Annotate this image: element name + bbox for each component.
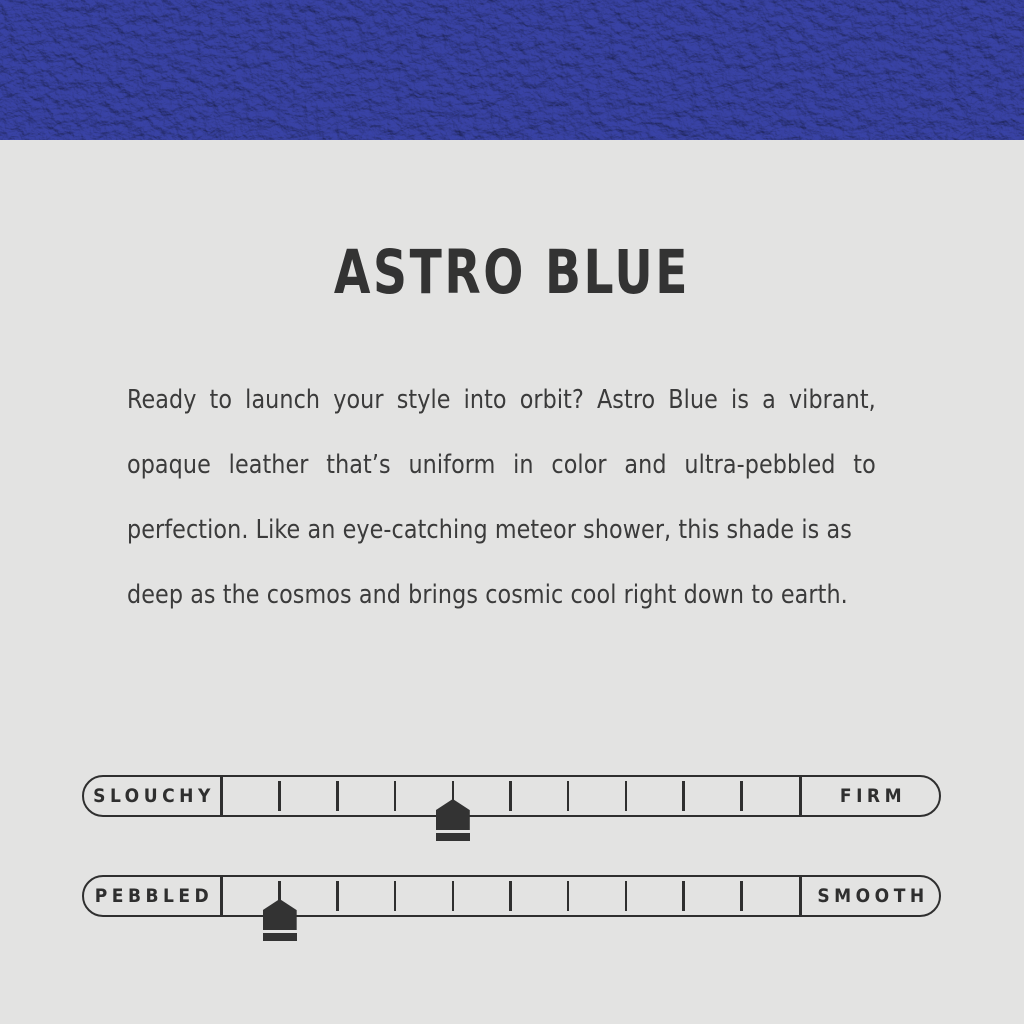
texture-scale-tick: [394, 881, 397, 911]
marker-base-bar: [436, 833, 470, 841]
structure-scale-ticks: [222, 775, 799, 817]
structure-scale-tick: [567, 781, 570, 811]
texture-scale-tick: [452, 881, 455, 911]
structure-scale-tick: [509, 781, 512, 811]
structure-scale-label-left: SLOUCHY: [82, 775, 222, 817]
texture-scale-tick: [567, 881, 570, 911]
description-last-line: deep as the cosmos and brings cosmic coo…: [127, 563, 876, 628]
marker-base-bar: [263, 933, 297, 941]
marker-head-icon: [436, 799, 470, 830]
product-description: Ready to launch your style into orbit? A…: [127, 368, 876, 628]
texture-scale-label-right: SMOOTH: [801, 875, 941, 917]
texture-scale-tick: [682, 881, 685, 911]
structure-scale[interactable]: SLOUCHY FIRM: [82, 775, 941, 817]
structure-scale-marker[interactable]: [435, 781, 471, 847]
description-body: Ready to launch your style into orbit? A…: [127, 385, 876, 545]
structure-scale-tick: [682, 781, 685, 811]
structure-scale-tick: [625, 781, 628, 811]
texture-scale[interactable]: PEBBLED SMOOTH: [82, 875, 941, 917]
structure-scale-tick: [278, 781, 281, 811]
page-title: ASTRO BLUE: [72, 238, 953, 308]
leather-swatch-band: [0, 0, 1024, 140]
product-swatch-card: ASTRO BLUE Ready to launch your style in…: [0, 0, 1024, 1024]
marker-head-icon: [263, 899, 297, 930]
texture-scale-tick: [509, 881, 512, 911]
structure-scale-tick: [394, 781, 397, 811]
structure-scale-tick: [336, 781, 339, 811]
texture-scale-ticks: [222, 875, 799, 917]
texture-scale-tick: [336, 881, 339, 911]
texture-scale-tick: [740, 881, 743, 911]
leather-texture-graphic: [0, 0, 1024, 140]
texture-scale-marker[interactable]: [262, 881, 298, 947]
texture-scale-label-left: PEBBLED: [82, 875, 222, 917]
structure-scale-label-right: FIRM: [801, 775, 941, 817]
structure-scale-tick: [740, 781, 743, 811]
texture-scale-tick: [625, 881, 628, 911]
